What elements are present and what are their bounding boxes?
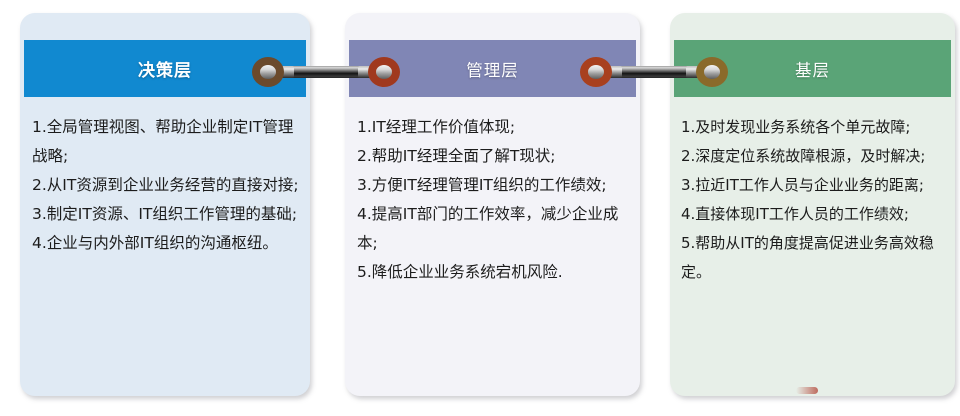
list-item: 4.直接体现IT工作人员的工作绩效;: [681, 200, 949, 229]
card-grassroots-body: 1.及时发现业务系统各个单元故障; 2.深度定位系统故障根源，及时解决; 3.拉…: [670, 105, 955, 396]
list-item: 1.全局管理视图、帮助企业制定IT管理战略;: [32, 113, 300, 171]
diagram-canvas: 决策层 1.全局管理视图、帮助企业制定IT管理战略; 2.从IT资源到企业业务经…: [0, 0, 960, 416]
chain-grommet-icon: [368, 57, 400, 87]
decorative-mark: [796, 387, 818, 394]
chain-grommet-icon: [696, 57, 728, 87]
list-item: 2.帮助IT经理全面了解T现状;: [357, 142, 630, 171]
list-item: 5.帮助从IT的角度提高促进业务高效稳定。: [681, 229, 949, 287]
list-item: 4.企业与内外部IT组织的沟通枢纽。: [32, 229, 300, 258]
list-item: 4.提高IT部门的工作效率，减少企业成本;: [357, 200, 630, 258]
card-decision-title: 决策层: [138, 56, 192, 81]
chain-link-bar-icon: [278, 66, 374, 78]
list-item: 1.IT经理工作价值体现;: [357, 113, 630, 142]
card-management-body: 1.IT经理工作价值体现; 2.帮助IT经理全面了解T现状; 3.方便IT经理管…: [345, 105, 640, 396]
connector-management-to-grassroots: [580, 55, 728, 89]
list-item: 2.深度定位系统故障根源，及时解决;: [681, 142, 949, 171]
chain-link-bar-icon: [606, 66, 702, 78]
card-decision-body: 1.全局管理视图、帮助企业制定IT管理战略; 2.从IT资源到企业业务经营的直接…: [20, 105, 310, 396]
card-grassroots-title: 基层: [795, 57, 830, 81]
list-item: 5.降低企业业务系统宕机风险.: [357, 258, 630, 287]
connector-decision-to-management: [252, 55, 400, 89]
list-item: 3.拉近IT工作人员与企业业务的距离;: [681, 171, 949, 200]
list-item: 3.制定IT资源、IT组织工作管理的基础;: [32, 200, 300, 229]
card-management-title: 管理层: [466, 57, 519, 81]
chain-grommet-icon: [580, 57, 612, 87]
list-item: 1.及时发现业务系统各个单元故障;: [681, 113, 949, 142]
list-item: 3.方便IT经理管理IT组织的工作绩效;: [357, 171, 630, 200]
chain-grommet-icon: [252, 57, 284, 87]
list-item: 2.从IT资源到企业业务经营的直接对接;: [32, 171, 300, 200]
